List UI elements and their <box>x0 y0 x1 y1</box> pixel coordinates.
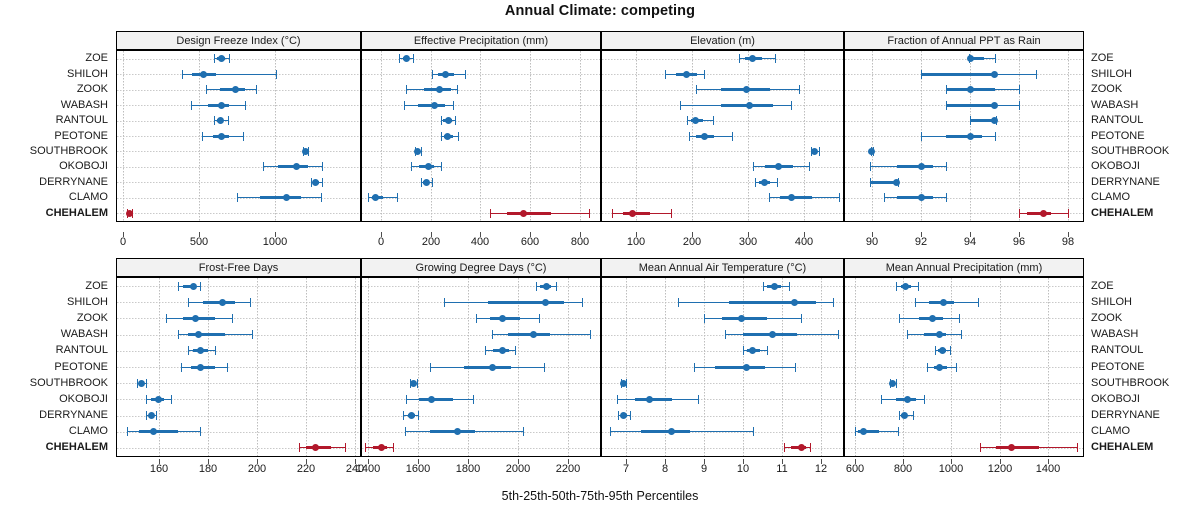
x-axis-tick-label: 200 <box>248 463 266 475</box>
whisker-cap-p95 <box>345 443 346 452</box>
climate-figure: Annual Climate: competing 5th-25th-50th-… <box>0 0 1200 525</box>
percentile-marker <box>602 278 843 456</box>
whisker-cap-p95 <box>589 209 590 218</box>
whisker-cap-p95 <box>671 209 672 218</box>
x-axis-tick-label: 98 <box>1062 236 1074 248</box>
panel-strip-title: Mean Annual Precipitation (mm) <box>844 258 1084 277</box>
panel-mean-annual-precipitation-mm: Mean Annual Precipitation (mm) <box>844 258 1084 457</box>
x-axis-tick-label: 8 <box>662 463 668 475</box>
x-axis-tick-label: 92 <box>915 236 927 248</box>
x-axis-tick-label: 400 <box>795 236 813 248</box>
site-label-left: CLAMO <box>69 192 108 203</box>
site-label-right: OKOBOJI <box>1091 394 1140 405</box>
site-label-left: CHEHALEM <box>46 442 108 453</box>
panel-strip-title: Mean Annual Air Temperature (°C) <box>601 258 844 277</box>
x-axis <box>116 230 361 231</box>
x-axis-tick-label: 800 <box>571 236 589 248</box>
x-axis <box>361 230 601 231</box>
site-label-right: RANTOUL <box>1091 115 1143 126</box>
site-label-left: DERRYNANE <box>39 177 108 188</box>
percentile-marker <box>362 278 600 456</box>
site-label-left: WABASH <box>61 100 108 111</box>
site-label-right: DERRYNANE <box>1091 177 1160 188</box>
site-label-right: CLAMO <box>1091 426 1130 437</box>
whisker-cap-p5 <box>365 443 366 452</box>
panel-mean-annual-air-temperature-c: Mean Annual Air Temperature (°C) <box>601 258 844 457</box>
x-axis-tick-label: 1200 <box>988 463 1012 475</box>
x-axis-tick-label: 2000 <box>506 463 530 475</box>
x-axis-tick-label: 1600 <box>406 463 430 475</box>
site-label-right: ZOOK <box>1091 313 1122 324</box>
percentile-marker <box>845 51 1083 221</box>
site-label-right: CHEHALEM <box>1091 208 1153 219</box>
site-label-right: ZOOK <box>1091 84 1122 95</box>
site-label-left: RANTOUL <box>56 115 108 126</box>
whisker-cap-p5 <box>612 209 613 218</box>
site-label-left: SHILOH <box>67 69 108 80</box>
plot-area <box>601 277 844 457</box>
site-label-left: SOUTHBROOK <box>30 378 108 389</box>
plot-area <box>601 50 844 222</box>
site-label-right: SOUTHBROOK <box>1091 378 1169 389</box>
panel-elevation-m: Elevation (m) <box>601 31 844 222</box>
x-axis-tick-label: 300 <box>739 236 757 248</box>
site-label-left: SHILOH <box>67 297 108 308</box>
median-point <box>312 444 319 451</box>
site-label-right: SHILOH <box>1091 297 1132 308</box>
x-axis-tick-label: 0 <box>378 236 384 248</box>
site-label-right: CLAMO <box>1091 192 1130 203</box>
site-label-left: PEOTONE <box>54 131 108 142</box>
x-axis-tick-label: 7 <box>623 463 629 475</box>
median-point <box>378 444 385 451</box>
x-axis <box>601 230 844 231</box>
whisker-cap-p95 <box>393 443 394 452</box>
whisker-cap-p5 <box>980 443 981 452</box>
plot-area <box>844 50 1084 222</box>
whisker-cap-p95 <box>810 443 811 452</box>
percentile-marker <box>117 278 360 456</box>
footer-caption: 5th-25th-50th-75th-95th Percentiles <box>0 489 1200 503</box>
median-point <box>126 210 133 217</box>
x-axis-tick-label: 1000 <box>939 463 963 475</box>
panel-strip-title: Frost-Free Days <box>116 258 361 277</box>
interquartile-bar <box>996 446 1039 449</box>
x-axis-tick-label: 100 <box>627 236 645 248</box>
median-point <box>1040 210 1047 217</box>
panel-fraction-of-annual-ppt-as-rain: Fraction of Annual PPT as Rain <box>844 31 1084 222</box>
x-axis-tick-label: 2200 <box>556 463 580 475</box>
site-label-right: CHEHALEM <box>1091 442 1153 453</box>
x-axis-tick-label: 96 <box>1013 236 1025 248</box>
site-label-right: PEOTONE <box>1091 131 1145 142</box>
x-axis-tick-label: 400 <box>471 236 489 248</box>
plot-area <box>116 277 361 457</box>
site-label-left: SOUTHBROOK <box>30 146 108 157</box>
x-axis <box>361 457 601 458</box>
x-axis-tick-label: 1400 <box>356 463 380 475</box>
x-axis <box>116 457 361 458</box>
x-axis-tick-label: 1000 <box>263 236 287 248</box>
site-label-right: DERRYNANE <box>1091 410 1160 421</box>
interquartile-bar <box>507 212 552 215</box>
whisker-cap-p5 <box>490 209 491 218</box>
median-point <box>520 210 527 217</box>
site-label-right: SOUTHBROOK <box>1091 146 1169 157</box>
x-axis-tick-label: 600 <box>521 236 539 248</box>
percentile-marker <box>845 278 1083 456</box>
site-label-right: SHILOH <box>1091 69 1132 80</box>
percentile-marker <box>362 51 600 221</box>
site-label-left: OKOBOJI <box>59 394 108 405</box>
site-label-right: ZOE <box>1091 281 1114 292</box>
x-axis <box>844 457 1084 458</box>
percentile-marker <box>117 51 360 221</box>
x-axis-tick-label: 0 <box>120 236 126 248</box>
site-label-right: OKOBOJI <box>1091 161 1140 172</box>
site-label-left: WABASH <box>61 329 108 340</box>
panel-growing-degree-days-c: Growing Degree Days (°C) <box>361 258 601 457</box>
median-point <box>629 210 636 217</box>
x-axis-tick-label: 12 <box>815 463 827 475</box>
x-axis-tick-label: 10 <box>737 463 749 475</box>
panel-effective-precipitation-mm: Effective Precipitation (mm) <box>361 31 601 222</box>
plot-area <box>116 50 361 222</box>
panel-strip-title: Effective Precipitation (mm) <box>361 31 601 50</box>
panel-strip-title: Elevation (m) <box>601 31 844 50</box>
site-label-right: WABASH <box>1091 100 1138 111</box>
panel-frost-free-days: Frost-Free Days <box>116 258 361 457</box>
interquartile-bar <box>623 212 649 215</box>
site-label-right: ZOE <box>1091 53 1114 64</box>
panel-strip-title: Design Freeze Index (°C) <box>116 31 361 50</box>
site-label-left: DERRYNANE <box>39 410 108 421</box>
x-axis-tick-label: 180 <box>199 463 217 475</box>
site-label-left: CHEHALEM <box>46 208 108 219</box>
x-axis-tick-label: 800 <box>894 463 912 475</box>
site-label-left: ZOOK <box>77 313 108 324</box>
site-label-left: ZOE <box>85 281 108 292</box>
plot-area <box>361 277 601 457</box>
site-label-left: ZOE <box>85 53 108 64</box>
x-axis-tick-label: 200 <box>683 236 701 248</box>
whisker-cap-p5 <box>1019 209 1020 218</box>
percentile-marker <box>602 51 843 221</box>
site-label-left: PEOTONE <box>54 362 108 373</box>
site-label-right: PEOTONE <box>1091 362 1145 373</box>
x-axis-tick-label: 90 <box>866 236 878 248</box>
site-label-left: CLAMO <box>69 426 108 437</box>
site-label-left: OKOBOJI <box>59 161 108 172</box>
site-label-left: RANTOUL <box>56 345 108 356</box>
whisker-cap-p5 <box>784 443 785 452</box>
whisker-cap-p95 <box>1077 443 1078 452</box>
x-axis-tick-label: 11 <box>776 463 787 475</box>
panel-strip-title: Growing Degree Days (°C) <box>361 258 601 277</box>
x-axis-tick-label: 9 <box>701 463 707 475</box>
whisker-cap-p95 <box>1068 209 1069 218</box>
median-point <box>798 444 805 451</box>
x-axis <box>601 457 844 458</box>
interquartile-bar <box>1027 212 1052 215</box>
x-axis-tick-label: 600 <box>846 463 864 475</box>
panel-design-freeze-index-c: Design Freeze Index (°C) <box>116 31 361 222</box>
site-label-right: WABASH <box>1091 329 1138 340</box>
x-axis <box>844 230 1084 231</box>
x-axis-tick-label: 160 <box>150 463 168 475</box>
x-axis-tick-label: 220 <box>297 463 315 475</box>
whisker-cap-p5 <box>299 443 300 452</box>
x-axis-tick-label: 1400 <box>1036 463 1060 475</box>
x-axis-tick-label: 1800 <box>456 463 480 475</box>
plot-area <box>361 50 601 222</box>
panel-strip-title: Fraction of Annual PPT as Rain <box>844 31 1084 50</box>
site-label-right: RANTOUL <box>1091 345 1143 356</box>
x-axis-tick-label: 500 <box>190 236 208 248</box>
x-axis-tick-label: 94 <box>964 236 976 248</box>
page-title: Annual Climate: competing <box>0 3 1200 19</box>
site-label-left: ZOOK <box>77 84 108 95</box>
median-point <box>1008 444 1015 451</box>
plot-area <box>844 277 1084 457</box>
x-axis-tick-label: 200 <box>422 236 440 248</box>
